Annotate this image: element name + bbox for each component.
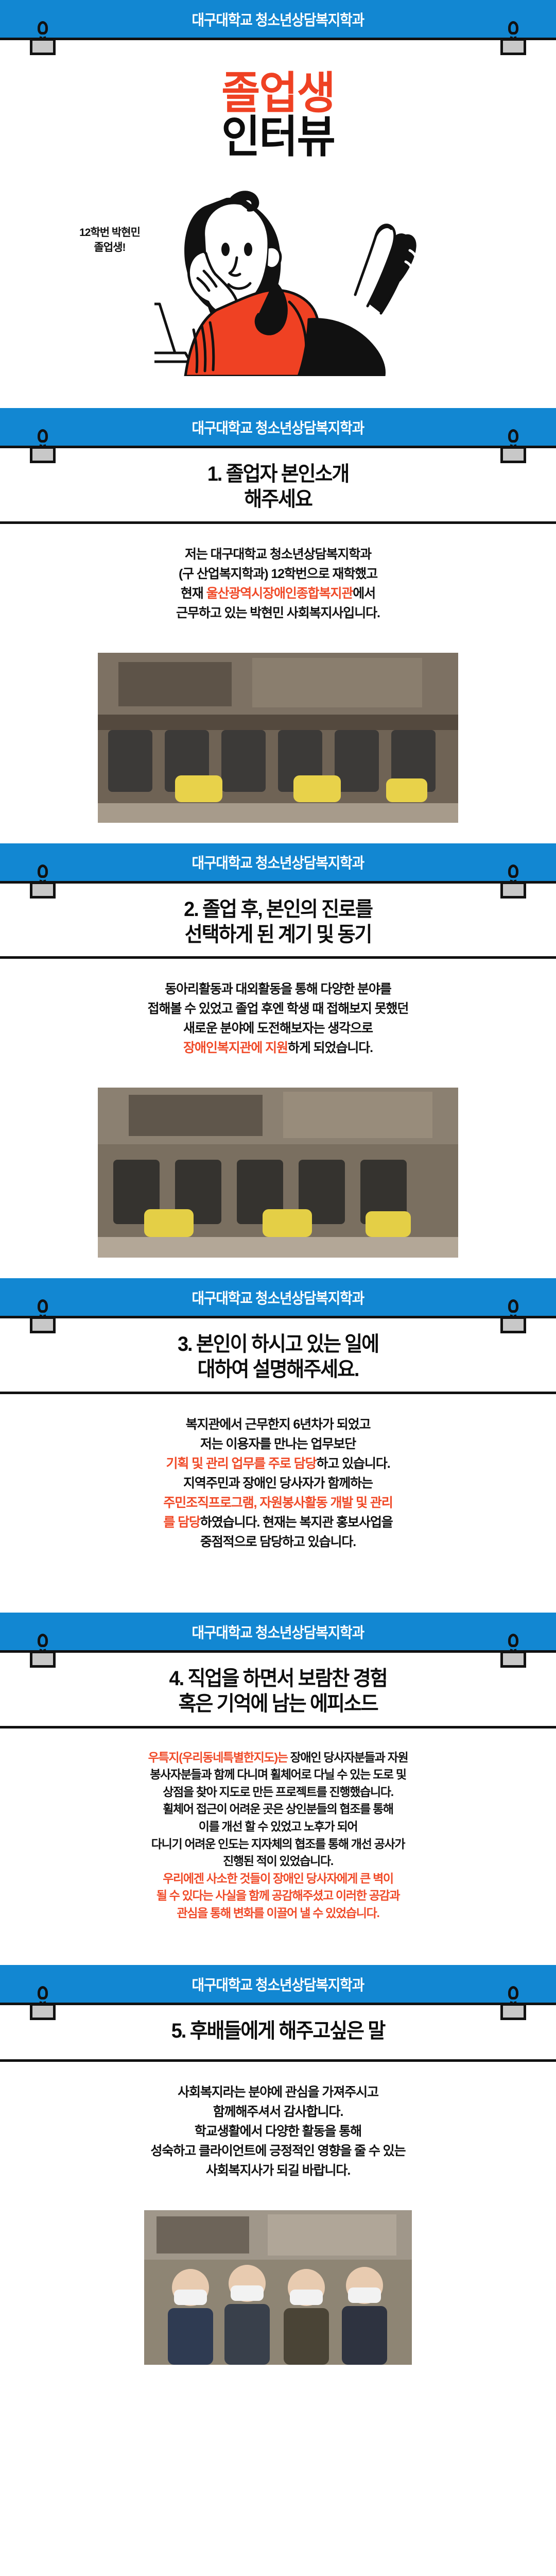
question-heading-line1: 2. 졸업 후, 본인의 진로를	[184, 898, 372, 921]
question-heading-q5: 5. 후배들에게 해주고싶은 말	[14, 2005, 542, 2059]
answer-line: 주민조직프로그램, 자원봉사활동 개발 및 관리	[24, 1493, 532, 1513]
answer-text: 하고 있습니다.	[316, 1456, 390, 1471]
answer-highlight: 기획 및 관리 업무를 주로 담당	[166, 1456, 316, 1471]
answer-line: 이를 개선 할 수 있었고 노후가 되어	[24, 1818, 532, 1836]
answer-text: 에서	[353, 586, 375, 601]
photo-group	[144, 2210, 412, 2365]
binder-clip-icon	[30, 31, 56, 55]
banner-q5: 대구대학교 청소년상담복지학과	[0, 1965, 556, 2005]
answer-line: 장애인복지관에 지원하게 되었습니다.	[24, 1038, 532, 1058]
answer-text: 하였습니다. 현재는 복지관 홍보사업을	[200, 1515, 393, 1530]
question-heading-line2: 혹은 기억에 남는 에피소드	[179, 1692, 378, 1715]
cover-caption: 12학번 박현민 졸업생!	[56, 226, 164, 256]
answer-line: 우특지(우리동네특별한지도)는 장애인 당사자분들과 자원	[24, 1749, 532, 1767]
banner-q2: 대구대학교 청소년상담복지학과	[0, 843, 556, 884]
answer-text: 저는 대구대학교 청소년상담복지학과	[185, 547, 371, 562]
question-heading-q3: 3. 본인이 하시고 있는 일에 대하여 설명해주세요.	[14, 1318, 542, 1392]
answer-line: (구 산업복지학과) 12학번으로 재학했고	[24, 564, 532, 584]
answer-line: 학교생활에서 다양한 활동을 통해	[24, 2122, 532, 2141]
answer-text: 중점적으로 담당하고 있습니다.	[200, 1535, 356, 1549]
answer-text: 성숙하고 클라이언트에 긍정적인 영향을 줄 수 있는	[151, 2144, 406, 2158]
answer-line: 새로운 분야에 도전해보자는 생각으로	[24, 1019, 532, 1038]
answer-line: 성숙하고 클라이언트에 긍정적인 영향을 줄 수 있는	[24, 2141, 532, 2161]
answer-line: 봉사자분들과 함께 다니며 휠체어로 다닐 수 있는 도로 및	[24, 1766, 532, 1784]
banner-title: 대구대학교 청소년상담복지학과	[192, 851, 364, 873]
answer-text: 장애인 당사자분들과 자원	[288, 1751, 408, 1764]
question-heading-line1: 3. 본인이 하시고 있는 일에	[178, 1333, 378, 1355]
answer-line: 근무하고 있는 박현민 사회복지사입니다.	[24, 603, 532, 623]
answer-text: 사회복지사가 되길 바랍니다.	[206, 2163, 350, 2178]
answer-body-q2: 동아리활동과 대외활동을 통해 다양한 분야를접해볼 수 있었고 졸업 후엔 학…	[0, 959, 556, 1074]
answer-text: 상점을 찾아 지도로 만든 프로젝트를 진행했습니다.	[163, 1785, 393, 1799]
question-heading-q1: 1. 졸업자 본인소개 해주세요	[14, 448, 542, 521]
question-heading-line2: 해주세요	[244, 488, 311, 511]
question-heading-line1: 5. 후배들에게 해주고싶은 말	[171, 2020, 385, 2042]
answer-line: 함께해주셔서 감사합니다.	[24, 2102, 532, 2122]
answer-text: 다니기 어려운 인도는 지자체의 협조를 통해 개선 공사가	[151, 1837, 405, 1851]
answer-line: 될 수 있다는 사실을 함께 공감해주셨고 이러한 공감과	[24, 1887, 532, 1905]
answer-line: 를 담당하였습니다. 현재는 복지관 홍보사업을	[24, 1513, 532, 1532]
woman-with-laptop-illustration	[154, 175, 443, 376]
answer-highlight: 우특지(우리동네특별한지도)는	[148, 1751, 288, 1764]
cover-caption-line2: 졸업생!	[94, 242, 126, 253]
answer-line: 상점을 찾아 지도로 만든 프로젝트를 진행했습니다.	[24, 1784, 532, 1801]
answer-text: (구 산업복지학과) 12학번으로 재학했고	[179, 567, 377, 581]
cover-title-line2: 인터뷰	[14, 115, 542, 160]
answer-text: 봉사자분들과 함께 다니며 휠체어로 다닐 수 있는 도로 및	[150, 1768, 406, 1781]
question-heading-line1: 4. 직업을 하면서 보람찬 경험	[169, 1667, 387, 1690]
cover-illustration: 12학번 박현민 졸업생!	[0, 165, 556, 381]
answer-text: 휠체어 접근이 어려운 곳은 상인분들의 협조를 통해	[163, 1802, 393, 1816]
answer-highlight: 주민조직프로그램, 자원봉사활동 개발 및 관리	[163, 1496, 392, 1510]
question-heading-q4: 4. 직업을 하면서 보람찬 경험 혹은 기억에 남는 에피소드	[14, 1653, 542, 1726]
answer-line: 사회복지사가 되길 바랍니다.	[24, 2161, 532, 2180]
banner-title: 대구대학교 청소년상담복지학과	[192, 1973, 364, 1995]
question-heading-line1: 1. 졸업자 본인소개	[207, 463, 349, 485]
answer-line: 기획 및 관리 업무를 주로 담당하고 있습니다.	[24, 1454, 532, 1473]
banner-q4: 대구대학교 청소년상담복지학과	[0, 1613, 556, 1653]
photo-workshop	[98, 1088, 458, 1258]
answer-line: 복지관에서 근무한지 6년차가 되었고	[24, 1415, 532, 1434]
photo-lecture-hall	[98, 653, 458, 823]
banner-title: 대구대학교 청소년상담복지학과	[192, 1286, 364, 1308]
answer-text: 동아리활동과 대외활동을 통해 다양한 분야를	[165, 982, 391, 996]
answer-body-q1: 저는 대구대학교 청소년상담복지학과(구 산업복지학과) 12학번으로 재학했고…	[0, 524, 556, 639]
answer-line: 진행된 적이 있었습니다.	[24, 1853, 532, 1870]
answer-line: 저는 이용자를 만나는 업무보단	[24, 1434, 532, 1454]
answer-line: 지역주민과 장애인 당사자가 함께하는	[24, 1473, 532, 1493]
answer-line: 다니기 어려운 인도는 지자체의 협조를 통해 개선 공사가	[24, 1836, 532, 1853]
answer-text: 하게 되었습니다.	[288, 1041, 373, 1055]
answer-highlight: 될 수 있다는 사실을 함께 공감해주셨고 이러한 공감과	[157, 1889, 400, 1902]
answer-text: 학교생활에서 다양한 활동을 통해	[195, 2124, 361, 2139]
answer-highlight: 를 담당	[163, 1515, 200, 1530]
banner-title: 대구대학교 청소년상담복지학과	[192, 1621, 364, 1642]
answer-line: 관심을 통해 변화를 이끌어 낼 수 있었습니다.	[24, 1905, 532, 1922]
answer-line: 저는 대구대학교 청소년상담복지학과	[24, 545, 532, 564]
answer-line: 접해볼 수 있었고 졸업 후엔 학생 때 접해보지 못했던	[24, 999, 532, 1019]
answer-highlight: 장애인복지관에 지원	[183, 1041, 288, 1055]
answer-highlight: 울산광역시장애인종합복지관	[206, 586, 353, 601]
cover-caption-line1: 12학번 박현민	[79, 227, 140, 239]
answer-text: 이를 개선 할 수 있었고 노후가 되어	[199, 1820, 358, 1833]
question-heading-line2: 선택하게 된 계기 및 동기	[185, 923, 372, 946]
answer-highlight: 관심을 통해 변화를 이끌어 낼 수 있었습니다.	[177, 1906, 379, 1920]
banner-title: 대구대학교 청소년상담복지학과	[192, 416, 364, 438]
answer-body-q3: 복지관에서 근무한지 6년차가 되었고저는 이용자를 만나는 업무보단기획 및 …	[0, 1394, 556, 1568]
cover-title: 졸업생 인터뷰	[0, 40, 556, 160]
answer-text: 저는 이용자를 만나는 업무보단	[200, 1437, 356, 1451]
answer-line: 휠체어 접근이 어려운 곳은 상인분들의 협조를 통해	[24, 1801, 532, 1818]
answer-text: 복지관에서 근무한지 6년차가 되었고	[186, 1417, 371, 1432]
answer-text: 함께해주셔서 감사합니다.	[213, 2105, 343, 2119]
answer-highlight: 우리에겐 사소한 것들이 장애인 당사자에게 큰 벽이	[163, 1872, 393, 1885]
binder-clip-icon	[500, 31, 526, 55]
answer-line: 우리에겐 사소한 것들이 장애인 당사자에게 큰 벽이	[24, 1870, 532, 1888]
banner-title: 대구대학교 청소년상담복지학과	[192, 8, 364, 30]
banner-q1: 대구대학교 청소년상담복지학과	[0, 408, 556, 448]
question-heading-q2: 2. 졸업 후, 본인의 진로를 선택하게 된 계기 및 동기	[14, 884, 542, 957]
answer-text: 접해볼 수 있었고 졸업 후엔 학생 때 접해보지 못했던	[148, 1002, 409, 1016]
answer-line: 중점적으로 담당하고 있습니다.	[24, 1532, 532, 1552]
answer-text: 지역주민과 장애인 당사자가 함께하는	[183, 1476, 373, 1490]
answer-body-q5: 사회복지라는 분야에 관심을 가져주시고함께해주셔서 감사합니다.학교생활에서 …	[0, 2062, 556, 2197]
answer-text: 새로운 분야에 도전해보자는 생각으로	[183, 1021, 373, 1036]
answer-text: 진행된 적이 있었습니다.	[223, 1854, 333, 1868]
banner-q3: 대구대학교 청소년상담복지학과	[0, 1278, 556, 1318]
answer-body-q4: 우특지(우리동네특별한지도)는 장애인 당사자분들과 자원봉사자분들과 함께 다…	[0, 1728, 556, 1939]
question-heading-line2: 대하여 설명해주세요.	[198, 1358, 359, 1381]
cover-title-line1: 졸업생	[14, 72, 542, 115]
answer-line: 현재 울산광역시장애인종합복지관에서	[24, 584, 532, 603]
answer-line: 사회복지라는 분야에 관심을 가져주시고	[24, 2082, 532, 2102]
answer-text: 사회복지라는 분야에 관심을 가져주시고	[178, 2085, 378, 2099]
answer-line: 동아리활동과 대외활동을 통해 다양한 분야를	[24, 979, 532, 999]
banner-cover: 대구대학교 청소년상담복지학과	[0, 0, 556, 40]
answer-text: 근무하고 있는 박현민 사회복지사입니다.	[176, 606, 380, 620]
answer-text: 현재	[181, 586, 206, 601]
